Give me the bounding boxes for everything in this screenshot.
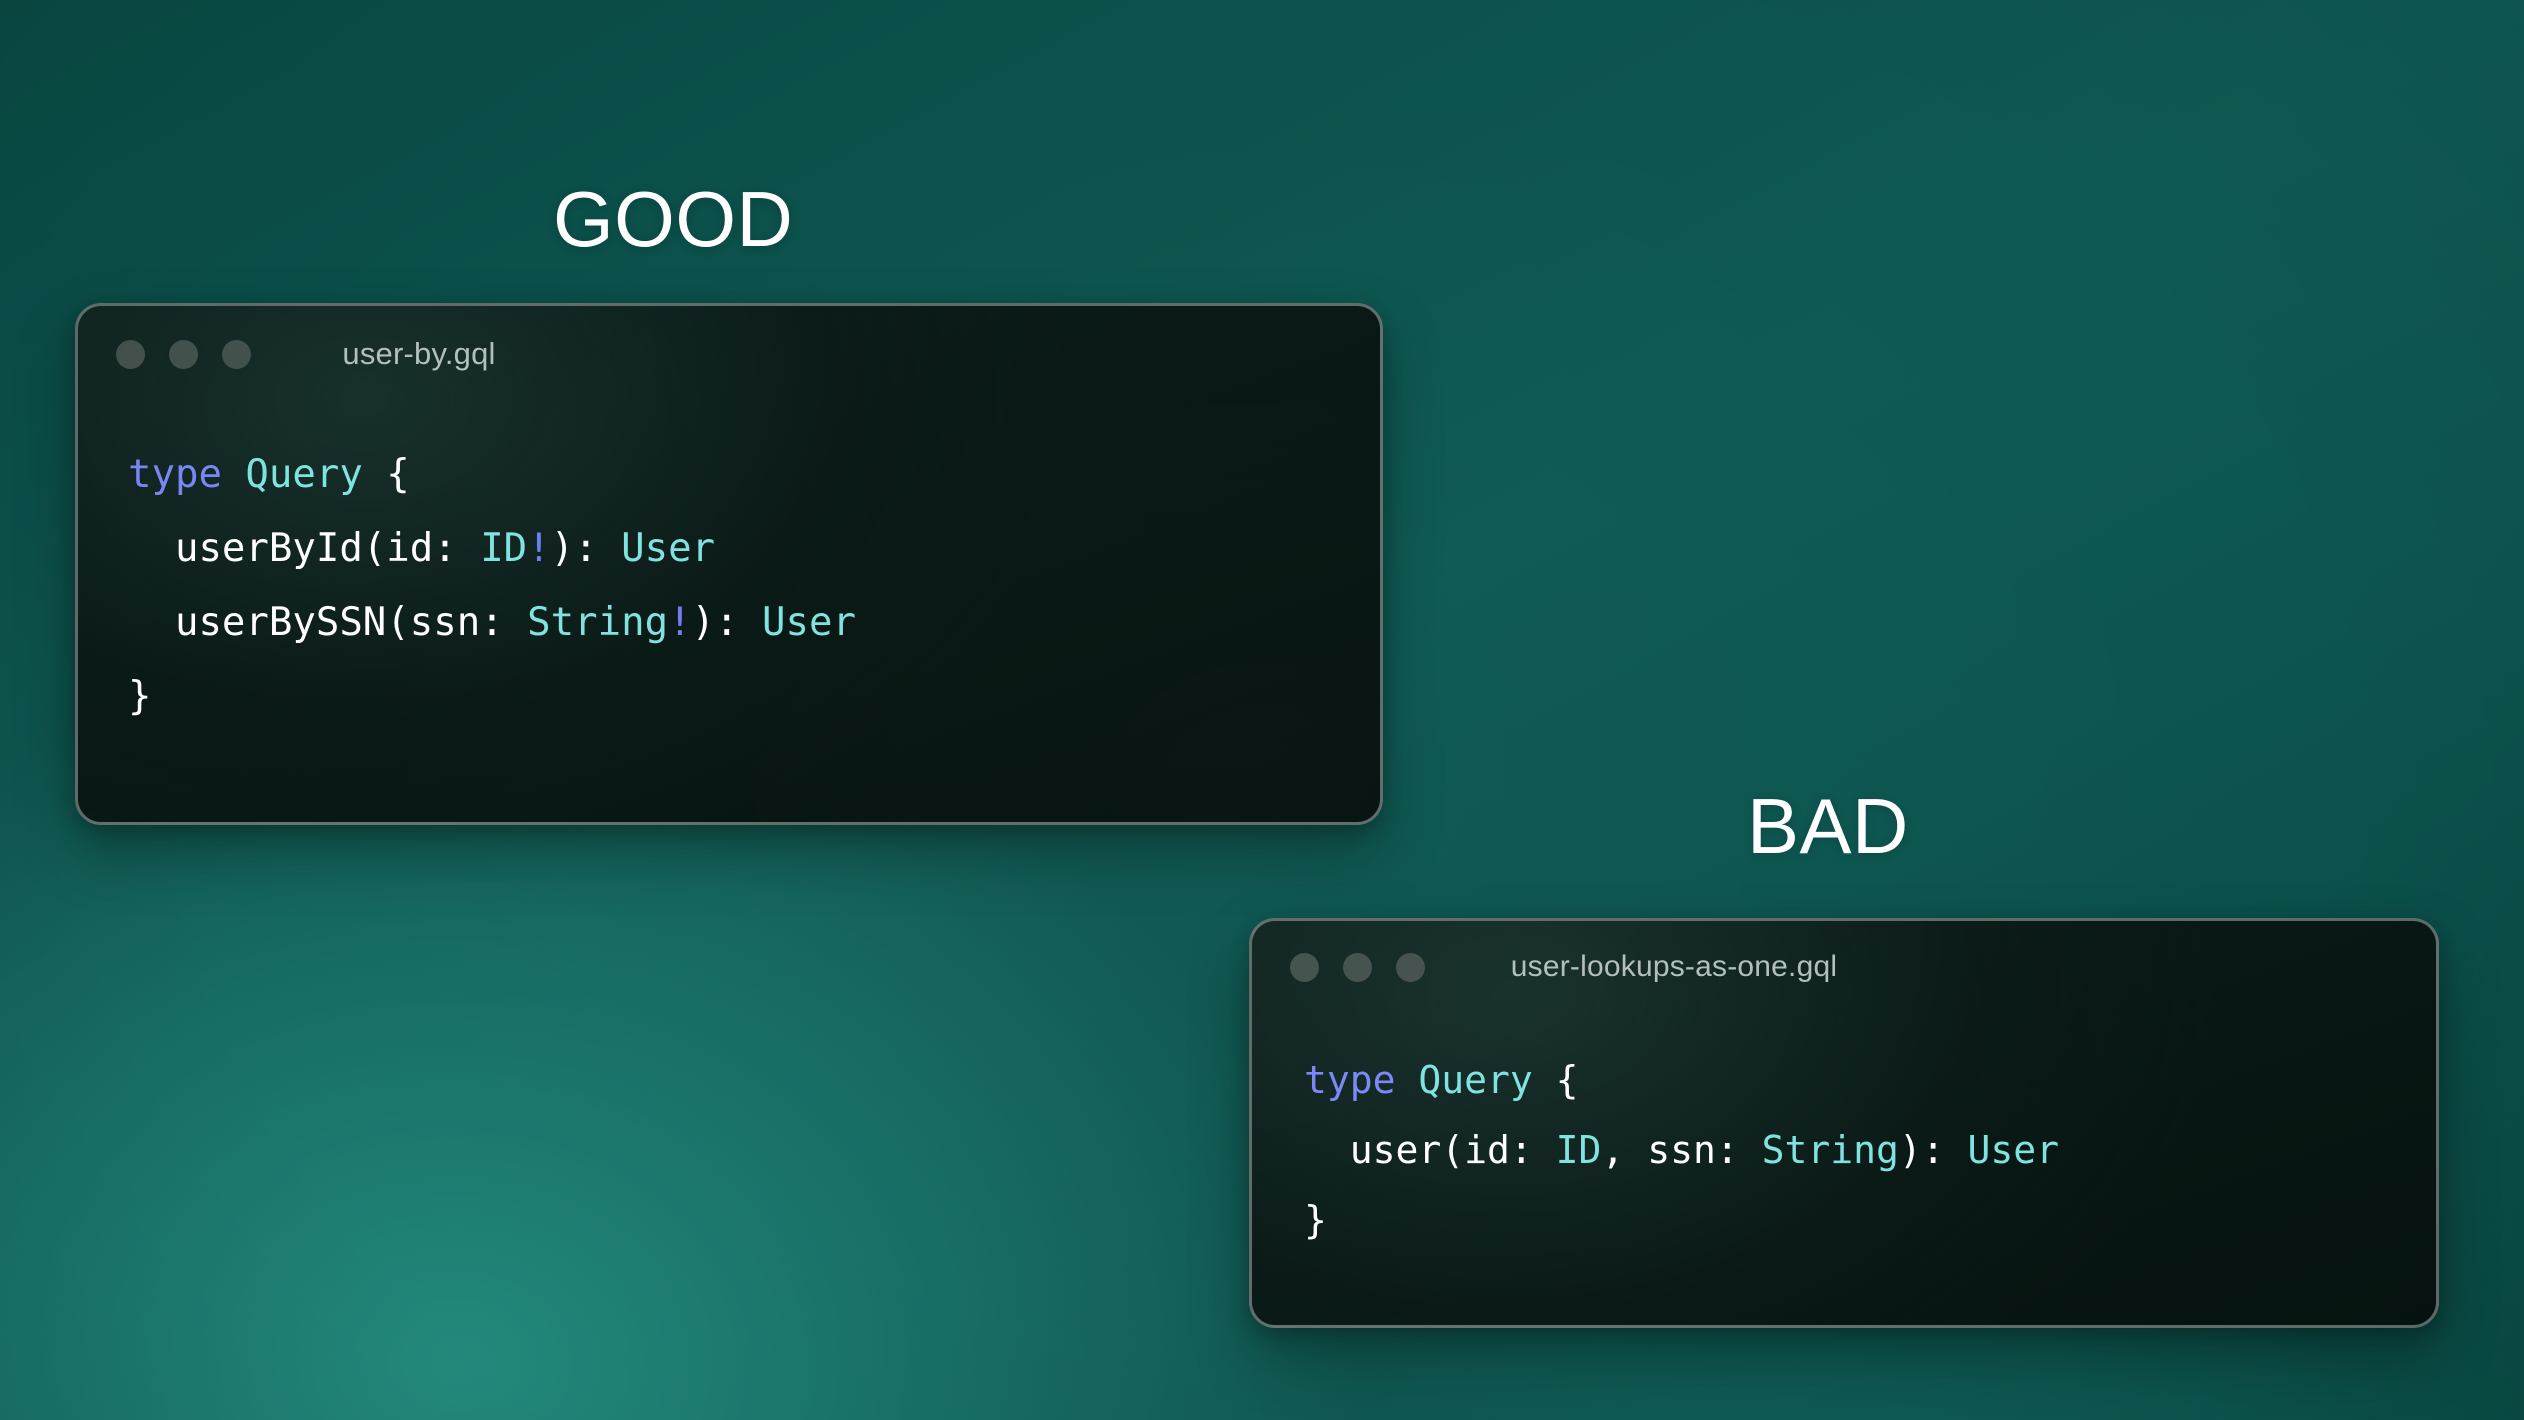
code-token-type: Query: [1418, 1058, 1532, 1102]
code-token-type: ID: [480, 526, 527, 571]
minimize-dot[interactable]: [1343, 953, 1372, 982]
code-line: type Query {: [1304, 1045, 2436, 1115]
code-token-keyword: type: [128, 452, 222, 497]
traffic-lights: [1290, 953, 1425, 982]
code-window-good: user-by.gql type Query { userById(id: ID…: [75, 303, 1383, 825]
code-token-plain: ):: [551, 526, 621, 571]
code-line: }: [1304, 1185, 2436, 1255]
traffic-lights: [116, 340, 251, 369]
code-block: type Query { user(id: ID, ssn: String): …: [1252, 1013, 2436, 1255]
close-dot[interactable]: [116, 340, 145, 369]
code-token-bang: !: [527, 526, 550, 571]
code-block: type Query { userById(id: ID!): User use…: [78, 402, 1380, 734]
code-token-plain: ):: [1899, 1128, 1968, 1172]
maximize-dot[interactable]: [222, 340, 251, 369]
code-line: userById(id: ID!): User: [128, 512, 1380, 586]
code-token-type: ID: [1556, 1128, 1602, 1172]
maximize-dot[interactable]: [1396, 953, 1425, 982]
code-token-plain: }: [1304, 1198, 1327, 1242]
code-token-keyword: type: [1304, 1058, 1396, 1102]
code-token-plain: }: [128, 674, 151, 719]
minimize-dot[interactable]: [169, 340, 198, 369]
code-token-plain: {: [1533, 1058, 1579, 1102]
code-line: user(id: ID, ssn: String): User: [1304, 1115, 2436, 1185]
code-token-plain: {: [363, 452, 410, 497]
code-line: userBySSN(ssn: String!): User: [128, 586, 1380, 660]
code-token-plain: user(id:: [1304, 1128, 1556, 1172]
code-token-type: User: [621, 526, 715, 571]
code-token-bang: !: [668, 600, 691, 645]
code-line: type Query {: [128, 438, 1380, 512]
bad-example-heading: BAD: [1747, 787, 1909, 865]
code-token-plain: [1396, 1058, 1419, 1102]
window-titlebar: user-by.gql: [78, 306, 1380, 402]
window-filename: user-lookups-as-one.gql: [1252, 950, 2436, 984]
window-titlebar: user-lookups-as-one.gql: [1252, 921, 2436, 1013]
code-token-type: String: [1762, 1128, 1899, 1172]
window-filename: user-by.gql: [78, 336, 1380, 372]
code-token-plain: userById(id:: [128, 526, 480, 571]
code-window-bad: user-lookups-as-one.gql type Query { use…: [1249, 918, 2439, 1328]
code-token-plain: userBySSN(ssn:: [128, 600, 527, 645]
code-token-type: User: [1968, 1128, 2060, 1172]
close-dot[interactable]: [1290, 953, 1319, 982]
code-token-plain: [222, 452, 245, 497]
code-token-plain: ):: [692, 600, 762, 645]
code-token-type: Query: [245, 452, 362, 497]
code-token-type: String: [527, 600, 668, 645]
slide-canvas: GOOD BAD user-by.gql type Query { userBy…: [0, 0, 2524, 1420]
code-token-plain: , ssn:: [1601, 1128, 1761, 1172]
code-token-type: User: [762, 600, 856, 645]
good-example-heading: GOOD: [553, 180, 793, 258]
code-line: }: [128, 660, 1380, 734]
